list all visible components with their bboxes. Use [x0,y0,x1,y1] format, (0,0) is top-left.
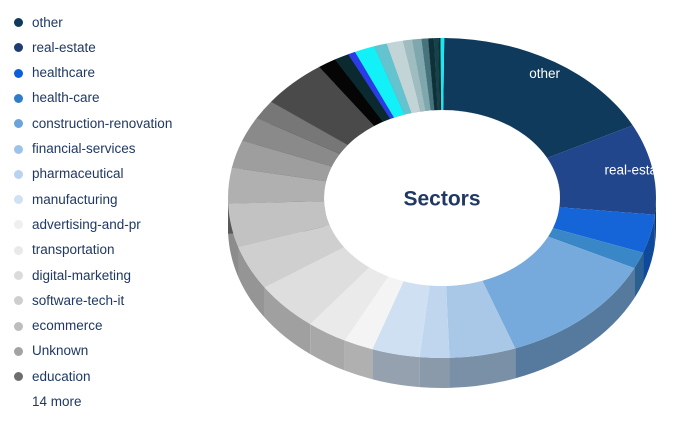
legend-item-label: software-tech-it [32,292,124,310]
legend-item-label: education [32,368,91,386]
legend-swatch-icon [14,347,23,356]
legend-item-ecommerce[interactable]: ecommerce [14,317,103,335]
legend-swatch-icon [14,69,23,78]
legend-swatch-icon [14,94,23,103]
legend-swatch-icon [14,322,23,331]
legend-item-label: digital-marketing [32,267,131,285]
legend-item-advertising-and-pr[interactable]: advertising-and-pr [14,216,141,234]
wedge-label-other: other [529,66,560,81]
legend-item-label: real-estate [32,39,96,57]
legend-swatch-icon [14,119,23,128]
legend-item-education[interactable]: education [14,368,91,386]
legend-swatch-icon [14,145,23,154]
donut-center-title: Sectors [403,188,480,211]
legend-swatch-icon [14,246,23,255]
legend-item-other[interactable]: other [14,14,63,32]
legend-more-link[interactable]: 14 more [32,393,82,411]
legend-item-label: healthcare [32,64,95,82]
legend-swatch-icon [14,271,23,280]
wedge-label-real-estate: real-estate [604,163,668,178]
legend-item-software-tech-it[interactable]: software-tech-it [14,292,124,310]
legend-item-label: Unknown [32,342,88,360]
legend-swatch-icon [14,296,23,305]
legend-item-manufacturing[interactable]: manufacturing [14,191,118,209]
legend-item-label: ecommerce [32,317,103,335]
legend-swatch-icon [14,220,23,229]
legend-item-pharmaceutical[interactable]: pharmaceutical [14,165,124,183]
legend-item-label: construction-renovation [32,115,172,133]
legend-swatch-icon [14,372,23,381]
legend-item-construction-renovation[interactable]: construction-renovation [14,115,172,133]
legend-item-unknown[interactable]: Unknown [14,342,88,360]
legend-item-label: manufacturing [32,191,118,209]
donut-chart: Sectorsotherreal-estate [228,30,688,400]
legend-item-label: pharmaceutical [32,165,124,183]
legend-item-healthcare[interactable]: healthcare [14,64,95,82]
legend-item-real-estate[interactable]: real-estate [14,39,96,57]
legend-item-financial-services[interactable]: financial-services [14,140,136,158]
legend-swatch-icon [14,18,23,27]
legend-item-label: other [32,14,63,32]
legend-swatch-icon [14,195,23,204]
legend-item-health-care[interactable]: health-care [14,89,100,107]
chart-legend: otherreal-estatehealthcarehealth-carecon… [0,0,230,441]
donut-chart-svg: Sectorsotherreal-estate [228,30,688,400]
legend-item-label: advertising-and-pr [32,216,141,234]
wedge-outer-wall-pharmaceutical [420,357,450,388]
legend-item-digital-marketing[interactable]: digital-marketing [14,267,131,285]
legend-item-label: financial-services [32,140,136,158]
legend-swatch-icon [14,43,23,52]
legend-swatch-icon [14,170,23,179]
legend-item-label: transportation [32,241,115,259]
legend-item-transportation[interactable]: transportation [14,241,115,259]
legend-item-label: health-care [32,89,100,107]
